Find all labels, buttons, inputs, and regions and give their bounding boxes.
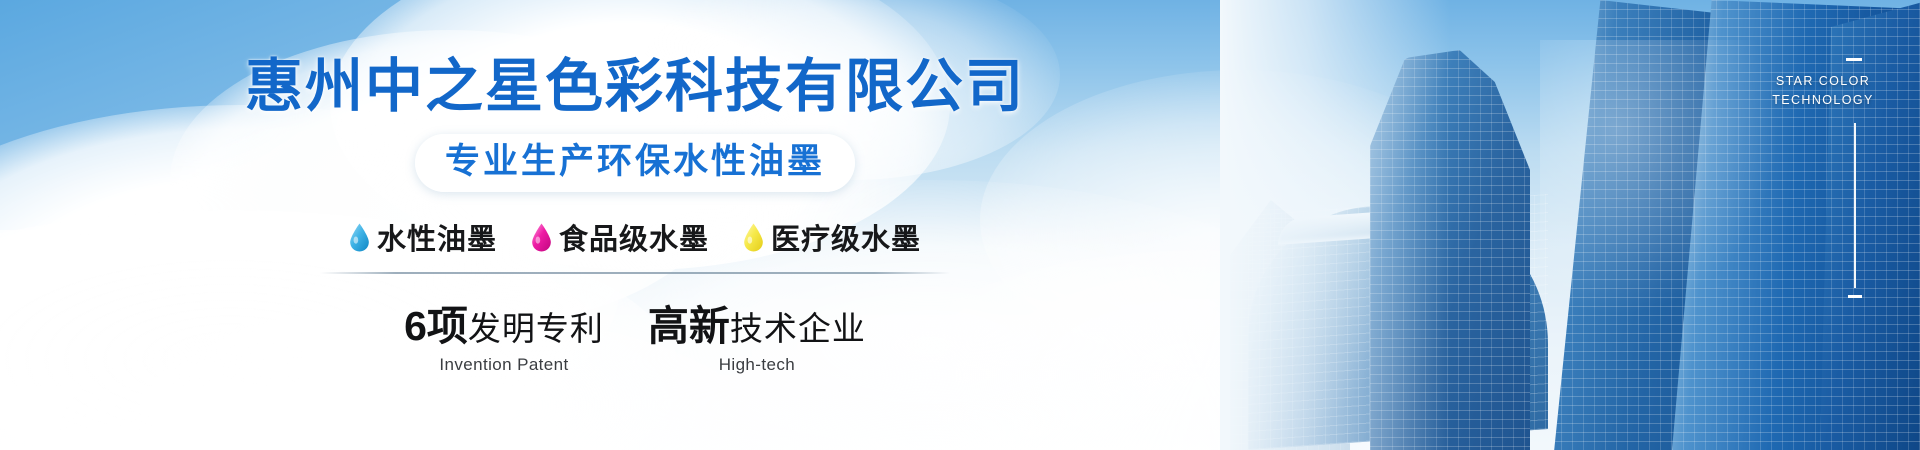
water-drop-icon xyxy=(743,223,764,252)
badge-subtitle: Invention Patent xyxy=(439,355,568,375)
badge-strong-text: 6项 xyxy=(404,292,468,352)
badge-main: 高新 技术企业 xyxy=(648,292,866,352)
badge-rest-text: 技术企业 xyxy=(730,302,866,350)
feature-list: 水性油墨 食品级水墨 xyxy=(349,216,921,258)
badge-subtitle: High-tech xyxy=(719,355,795,375)
feature-item: 食品级水墨 xyxy=(531,216,709,258)
badge-rest-text: 发明专利 xyxy=(468,302,604,350)
feature-label: 医疗级水墨 xyxy=(771,216,921,258)
company-title: 惠州中之星色彩科技有限公司 xyxy=(245,58,1025,116)
badge-strong-text: 高新 xyxy=(648,292,730,352)
feature-label: 水性油墨 xyxy=(377,216,497,258)
city-skyline-image xyxy=(1220,0,1920,450)
section-divider xyxy=(320,272,950,274)
banner-content: 惠州中之星色彩科技有限公司 专业生产环保水性油墨 水性油墨 xyxy=(0,0,1270,450)
tagline-text: 专业生产环保水性油墨 xyxy=(445,142,825,181)
brand-overlay-line1: STAR COLOR xyxy=(1748,72,1898,91)
building-right-edge xyxy=(1820,0,1920,450)
badge-item: 6项 发明专利 Invention Patent xyxy=(404,292,604,375)
badge-list: 6项 发明专利 Invention Patent 高新 技术企业 High-te… xyxy=(404,292,866,375)
badge-item: 高新 技术企业 High-tech xyxy=(648,292,866,375)
tagline-pill: 专业生产环保水性油墨 xyxy=(415,134,855,192)
vertical-rule xyxy=(1854,123,1856,288)
water-drop-icon xyxy=(349,223,370,252)
badge-main: 6项 发明专利 xyxy=(404,292,604,352)
tick-mark-bottom xyxy=(1848,295,1862,298)
feature-item: 水性油墨 xyxy=(349,216,497,258)
promo-banner: Star Color STAR COLOR TECHNOLOGY 惠州中之星色彩… xyxy=(0,0,1920,450)
water-drop-icon xyxy=(531,223,552,252)
brand-overlay-line2: TECHNOLOGY xyxy=(1748,91,1898,110)
feature-label: 食品级水墨 xyxy=(559,216,709,258)
feature-item: 医疗级水墨 xyxy=(743,216,921,258)
tick-mark-top xyxy=(1846,58,1862,61)
brand-overlay: STAR COLOR TECHNOLOGY xyxy=(1748,72,1898,111)
building-center-tower xyxy=(1370,50,1530,450)
